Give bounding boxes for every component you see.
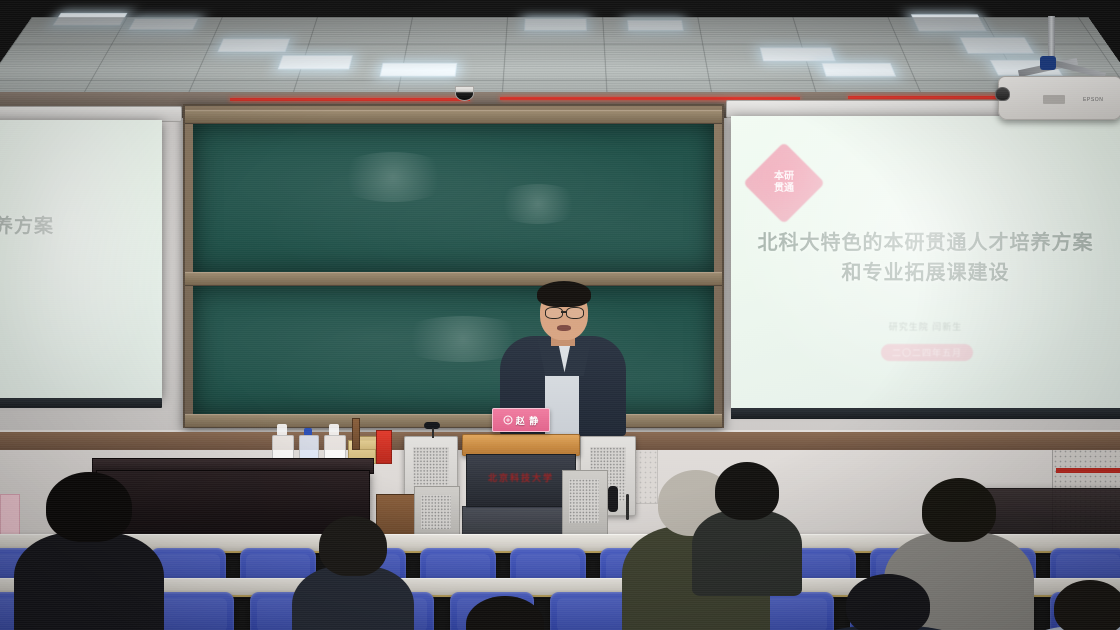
podium-university-logo: 北京科技大学 [467,471,575,484]
chalkboard-rail-bottom [185,414,722,428]
slide-badge-line2: 贯通 [774,183,794,195]
podium-top [462,434,580,456]
wall-equipment-panel [562,470,608,544]
audience-head [1054,580,1120,630]
audience-head [466,596,544,630]
person-front-midleft [430,596,580,630]
projection-screen-main: 本研 贯通 北科大特色的本研贯通人才培养方案 和专业拓展课建设 研究生院 闫新生… [731,116,1120,408]
chalk-smudge [333,152,453,202]
chalkboard-rail-middle [185,272,722,286]
red-trim-strip [1056,468,1120,473]
chair-back-post [352,418,360,450]
audience-head [715,462,779,520]
projector-mount-joint [1040,56,1056,70]
audience-head [846,574,930,630]
audience-head [319,516,387,576]
chalkboard-rail-top [185,110,722,124]
audience-torso [692,510,802,596]
name-placard-text: 赵 静 [516,414,540,427]
person-front-right-blue [1020,580,1120,630]
projector-lens-icon [995,87,1010,101]
slide-badge-text-wrap: 本研 贯通 [755,154,813,212]
red-box [376,430,392,464]
sanitizer-bottle-2 [324,424,344,462]
water-bottle-blue [299,428,317,462]
person-back-dark-jacket [692,462,802,606]
chalkboard-panel-upper [193,124,714,272]
led-strip-left [230,98,470,101]
lecture-hall-photo: 人才培养方案 建设 本研 贯通 北科大特色的本研贯通人才培养方案 和专业拓展课建… [0,0,1120,630]
ceiling-projector: EPSON [998,76,1120,120]
name-placard: 赵 静 [492,408,550,432]
audience-head [922,478,996,542]
presenter-mouth [557,325,571,331]
slide-date-pill: 二〇二四年五月 [881,344,973,361]
person-back-left-longhair [14,472,164,630]
projector-brand-label: EPSON [1083,97,1104,103]
slide-title-line2: 和专业拓展课建设 [731,258,1120,288]
person-front-navy [800,574,976,630]
presenter-glasses-bridge [561,311,567,313]
seal-icon [503,415,513,425]
green-chalkboard [183,104,724,428]
wall-phone-handset [608,486,618,512]
screen-weight-bar-main [731,408,1120,419]
left-slide-title-line1: 人才培养方案 [0,212,162,241]
slide-subtitle: 研究生院 闫新生 [731,320,1120,333]
left-slide-title-line2: 建设 [0,242,162,271]
sanitizer-bottle-1 [272,424,292,462]
chalkboard-panel-lower [193,286,714,414]
projection-screen-left: 人才培养方案 建设 [0,120,162,398]
presenter-hair [537,281,591,307]
presenter-glasses-right [566,307,584,319]
microphone-cable [432,428,434,438]
audience-torso [14,532,164,630]
projector-vent [1043,95,1065,104]
chalk-smudge [493,184,583,224]
presenter-glasses-left [545,307,563,319]
slide-title-line1: 北科大特色的本研贯通人才培养方案 [731,228,1120,258]
slide-badge-line1: 本研 [774,171,794,183]
led-strip-far-right [848,96,998,99]
audience-head [46,472,132,542]
screen-weight-bar-left [0,398,162,408]
dome-camera-icon [455,86,474,101]
podium-front: 北京科技大学 [466,454,576,508]
person-back-center-short [292,516,414,630]
